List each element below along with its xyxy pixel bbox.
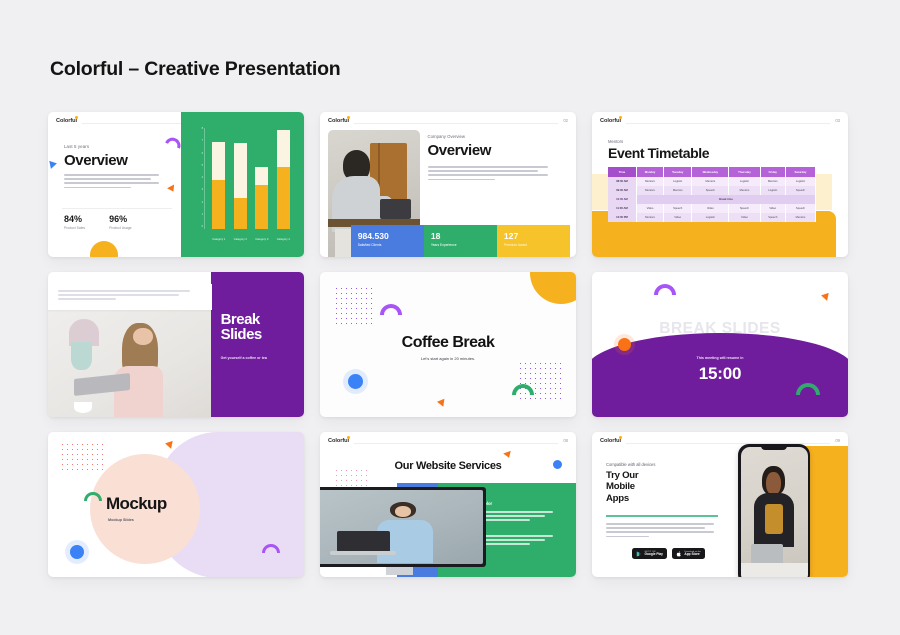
chart-axis-line [204, 128, 205, 229]
slide-title: Event Timetable [608, 145, 709, 161]
table-row: 08:00 AM Mentors Logistic Mentors Logist… [608, 177, 816, 186]
stat-value: 127 [504, 231, 563, 241]
slide-thumbnail-coffee-break[interactable]: Coffee Break Let's start again in 20 min… [320, 272, 576, 417]
stat-label: Premium Award [504, 243, 563, 247]
slide-title: Coffee Break [320, 334, 576, 352]
circle-decoration-blue [70, 545, 84, 559]
cell: Logistic [692, 213, 729, 222]
header-divider [626, 123, 830, 124]
logo-accent-dot [619, 116, 622, 119]
cell: Speech [692, 186, 729, 195]
app-store-badge[interactable]: Download on the App Store [672, 548, 705, 559]
cell-break-label: Break time [636, 195, 815, 204]
y-tick: 7 [202, 140, 204, 143]
cell-time: 11:00 AM [608, 204, 636, 213]
slide-title: BreakSlides [221, 312, 262, 343]
header-divider [354, 123, 558, 124]
cell: Video [729, 213, 760, 222]
resume-label: This meeting will resume in [592, 356, 848, 360]
cell: Video [692, 204, 729, 213]
y-tick: 4 [202, 177, 204, 180]
y-tick: 5 [202, 165, 204, 168]
dot-grid-decoration-red [60, 442, 104, 474]
chart-bar [255, 130, 268, 229]
slide-thumbnail-overview-chart[interactable]: slide-overview-chartColorful Last 5 year… [48, 112, 304, 257]
slides-grid: slide-overview-chartColorful Last 5 year… [48, 112, 852, 577]
column-header: Saturday [785, 167, 815, 177]
quote-bar: Consectetur adipiscing elit, sed do eius… [48, 284, 212, 310]
header-divider [354, 443, 558, 444]
stat-label: Years Experience [431, 243, 490, 247]
x-tick: Category 3 [253, 238, 271, 241]
table-header-row: Time Monday Tuesday Wednesday Thursday F… [608, 167, 816, 177]
chart-y-axis: 8 7 6 5 4 3 2 1 0 [194, 128, 203, 229]
triangle-decoration-orange [821, 293, 831, 302]
slide-subtitle: Let's start again in 20 minutes. [320, 356, 576, 361]
stats-group: 84% Product Sales 96% Product Usage [64, 214, 132, 230]
phone-mockup [738, 444, 810, 577]
logo-accent-dot [347, 436, 350, 439]
cell: Mentors [785, 213, 815, 222]
slide-subtitle: Mockup Slides [108, 518, 134, 522]
stat-card-experience: 18 Years Experience [424, 225, 497, 257]
cell: Video [636, 204, 663, 213]
cell: Logistic [785, 177, 815, 186]
table-row: 12:00 PM Mentors Video Logistic Video Sp… [608, 213, 816, 222]
stat-value: 96% [109, 214, 131, 224]
chart-bar [212, 130, 225, 229]
page-title: Colorful – Creative Presentation [50, 58, 341, 81]
google-play-badge[interactable]: GET IT ON Google Play [632, 548, 667, 559]
apple-icon [676, 551, 682, 557]
arch-decoration-purple [654, 284, 676, 295]
stat-card-clients: 984.530 Satisfied Clients [351, 225, 424, 257]
store-badges: GET IT ON Google Play Download on the Ap… [632, 548, 705, 559]
y-tick: 1 [202, 214, 204, 217]
slide-thumbnail-event-timetable[interactable]: Colorful 03 Mentors Event Timetable Time… [592, 112, 848, 257]
logo-accent-dot [619, 436, 622, 439]
triangle-decoration-orange [503, 451, 513, 459]
cell: Mentors [692, 177, 729, 186]
cell-time: 12:00 PM [608, 213, 636, 222]
stat-item: 96% Product Usage [109, 214, 131, 230]
cell: Video [760, 204, 785, 213]
cell: Speech [760, 213, 785, 222]
cell-time: 09:00 AM [608, 186, 636, 195]
slide-kicker: Mentors [608, 139, 623, 144]
cell: Speech [785, 186, 815, 195]
stat-label: Satisfied Clients [358, 243, 417, 247]
logo: Colorful [328, 118, 352, 124]
cell: Speech [664, 204, 692, 213]
page-number: 08 [563, 438, 568, 443]
monitor-stand [386, 567, 413, 575]
y-tick: 6 [202, 153, 204, 156]
page-number: 03 [835, 118, 840, 123]
purple-panel: BreakSlides Get yourself a coffee or tea [211, 272, 304, 417]
slide-thumbnail-break-timer[interactable]: BREAK SLIDES This meeting will resume in… [592, 272, 848, 417]
cell: Mentors [729, 186, 760, 195]
stat-item: 84% Product Sales [64, 214, 85, 230]
logo-accent-dot [75, 116, 78, 119]
circle-decoration-blue [348, 374, 363, 389]
slide-title: Mockup [106, 494, 167, 514]
slide-thumbnail-mobile-apps[interactable]: Colorful 09 Compatible with all devices … [592, 432, 848, 577]
timetable: Time Monday Tuesday Wednesday Thursday F… [608, 167, 816, 222]
y-tick: 8 [202, 128, 204, 131]
cell: Mentors [664, 186, 692, 195]
circle-decoration-orange [618, 338, 631, 351]
photo-woman-with-laptop [48, 310, 212, 417]
slide-thumbnail-mockup[interactable]: Mockup Mockup Slides [48, 432, 304, 577]
table-row: 09:00 AM Mentors Mentors Speech Mentors … [608, 186, 816, 195]
slide-kicker: Last 5 years [64, 144, 89, 149]
logo: slide-overview-chartColorful [56, 118, 80, 124]
screen-photo-smiling-man [741, 447, 808, 578]
stat-label: Product Sales [64, 226, 85, 230]
cell: Mentors [636, 213, 663, 222]
slide-kicker: Company Overview [428, 134, 566, 139]
divider [62, 208, 172, 209]
y-tick: 2 [202, 202, 204, 205]
stat-card-award: 127 Premium Award [497, 225, 570, 257]
cell: Logistic [760, 186, 785, 195]
page-number: 02 [563, 118, 568, 123]
triangle-decoration-orange [437, 399, 447, 408]
x-tick: Category 4 [274, 238, 292, 241]
stats-row: 984.530 Satisfied Clients 18 Years Exper… [351, 225, 570, 257]
slide-thumbnail-break-slides[interactable]: Consectetur adipiscing elit, sed do eius… [48, 272, 304, 417]
slide-title: Overview [428, 142, 566, 159]
chart-bars [208, 130, 294, 229]
cell: Mentors [636, 186, 663, 195]
y-tick: 0 [202, 226, 204, 229]
cell: Video [664, 213, 692, 222]
cell-time: 08:00 AM [608, 177, 636, 186]
slide-body-text: Nemo enim ipsam voluptatem quia voluptas… [64, 174, 159, 191]
accent-rule [606, 515, 718, 517]
cell: Logistic [729, 177, 760, 186]
slide-left-column: Last 5 years Overview Nemo enim ipsam vo… [48, 112, 181, 257]
badge-text: Download on the App Store [684, 551, 700, 556]
chart-bar [277, 130, 290, 229]
column-header: Monday [636, 167, 663, 177]
arch-decoration-green [512, 384, 534, 395]
stat-value: 18 [431, 231, 490, 241]
table-row-break: 10:00 AM Break time [608, 195, 816, 204]
logo: Colorful [328, 438, 352, 444]
cell: Mentors [636, 177, 663, 186]
page-number: 09 [835, 438, 840, 443]
dot-grid-decoration-purple [518, 361, 564, 403]
x-tick: Category 2 [231, 238, 249, 241]
screen-photo-woman-with-laptop [320, 490, 483, 564]
slide-right-column: Company Overview Overview Consectetur ad… [428, 134, 566, 183]
column-header: Friday [760, 167, 785, 177]
phone-notch [761, 446, 787, 450]
cell-time: 10:00 AM [608, 195, 636, 204]
column-header: Tuesday [664, 167, 692, 177]
column-header: Thursday [729, 167, 760, 177]
stat-value: 984.530 [358, 231, 417, 241]
google-play-icon [636, 551, 642, 557]
cell: Mentors [760, 177, 785, 186]
cell: Speech [785, 204, 815, 213]
circle-decoration-yellow [530, 272, 576, 304]
slide-body-text: All of our collections are designed to b… [606, 523, 714, 540]
cell: Speech [729, 204, 760, 213]
logo: Colorful [600, 438, 624, 444]
badge-text: GET IT ON Google Play [645, 551, 663, 556]
slide-kicker: Compatible with all devices [606, 462, 655, 467]
cell: Logistic [664, 177, 692, 186]
logo-accent-dot [347, 116, 350, 119]
stat-value: 84% [64, 214, 85, 224]
logo: Colorful [600, 118, 624, 124]
stat-label: Product Usage [109, 226, 131, 230]
slide-title: Overview [64, 152, 128, 169]
chart-x-axis: Category 1 Category 2 Category 3 Categor… [208, 238, 294, 241]
content-stage: Lorem Ipsum Dolor Consectetur adipiscing… [320, 483, 576, 577]
slide-body-text: Consectetur adipiscing elit, sed do eius… [428, 166, 548, 180]
column-header: Time [608, 167, 636, 177]
triangle-decoration-orange [165, 441, 175, 450]
laptop-mockup [320, 487, 486, 567]
slide-subtitle: Get yourself a coffee or tea [221, 356, 267, 360]
slide-title: Try Our Mobile Apps [606, 470, 638, 504]
arch-decoration-purple [380, 304, 402, 315]
slide-thumbnail-website-services[interactable]: Colorful 08 Our Website Services Lorem I… [320, 432, 576, 577]
dot-grid-decoration-purple [334, 286, 376, 326]
countdown-timer: 15:00 [592, 364, 848, 384]
slide-title: Our Website Services [320, 460, 576, 472]
x-tick: Category 1 [210, 238, 228, 241]
bar-chart: 8 7 6 5 4 3 2 1 0 [181, 112, 304, 257]
chart-bar [234, 130, 247, 229]
table-row: 11:00 AM Video Speech Video Speech Video… [608, 204, 816, 213]
y-tick: 3 [202, 189, 204, 192]
column-header: Wednesday [692, 167, 729, 177]
slide-thumbnail-company-overview[interactable]: Colorful 02 Company Overview Overview Co… [320, 112, 576, 257]
